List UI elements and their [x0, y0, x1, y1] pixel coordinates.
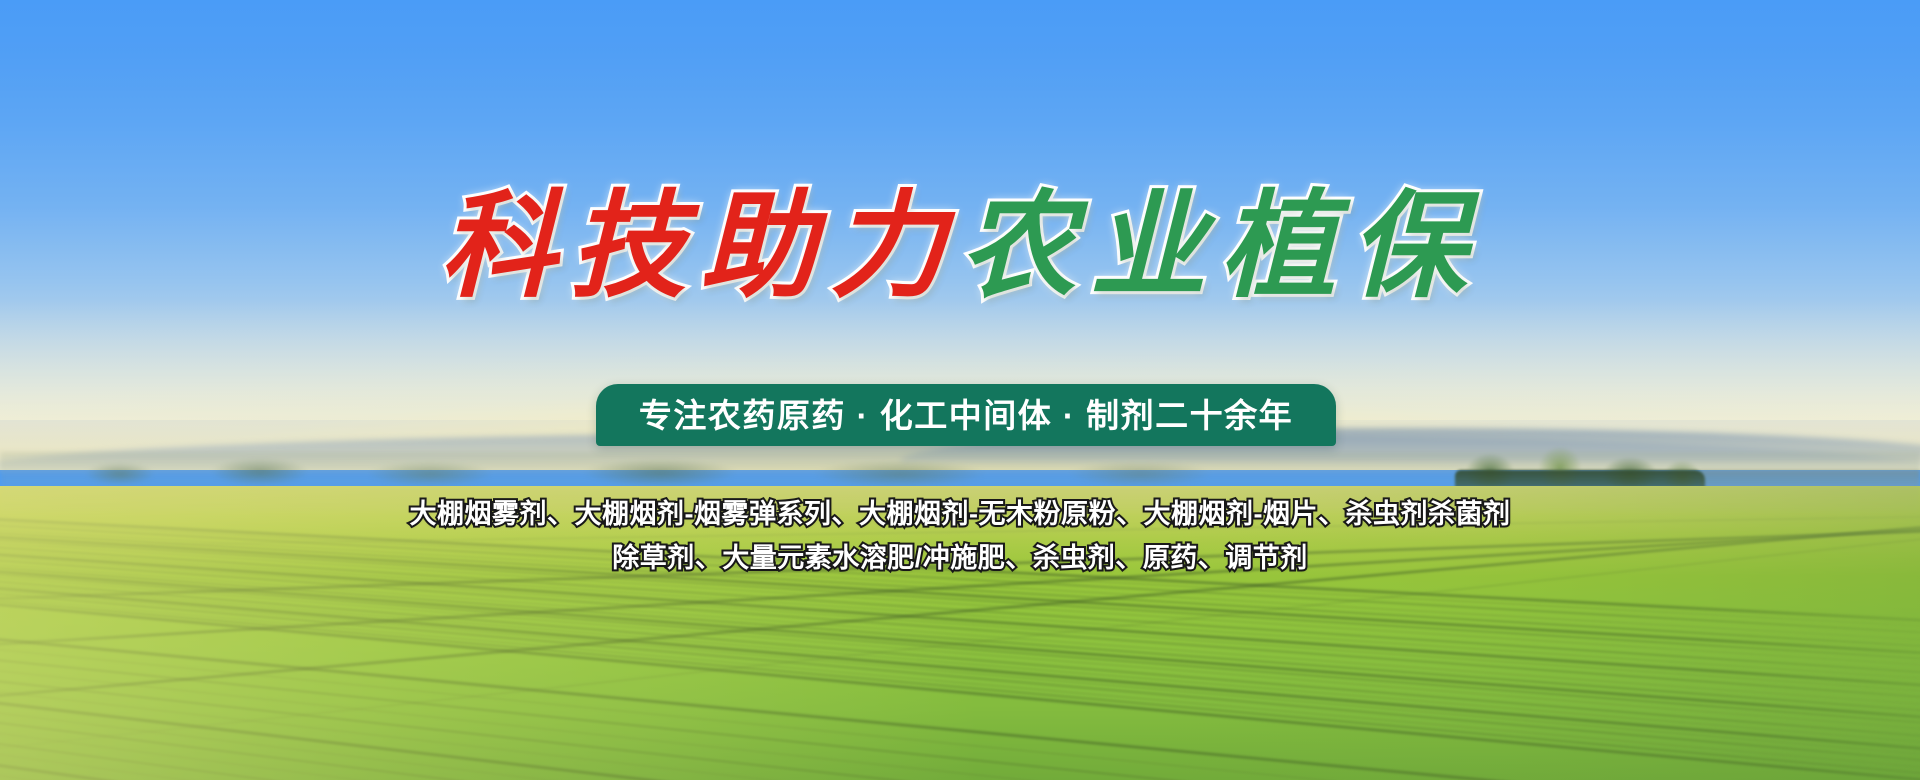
product-description: 大棚烟雾剂、大棚烟剂-烟雾弹系列、大棚烟剂-无木粉原粉、大棚烟剂-烟片、杀虫剂杀… [0, 492, 1920, 580]
tagline-text: 专注农药原药 · 化工中间体 · 制剂二十余年 [639, 399, 1293, 432]
description-line-1: 大棚烟雾剂、大棚烟剂-烟雾弹系列、大棚烟剂-无木粉原粉、大棚烟剂-烟片、杀虫剂杀… [0, 492, 1920, 536]
tagline-pill: 专注农药原药 · 化工中间体 · 制剂二十余年 [596, 384, 1336, 446]
headline-green-text: 农业植保 [960, 178, 1480, 314]
description-line-2: 除草剂、大量元素水溶肥/冲施肥、杀虫剂、原药、调节剂 [0, 536, 1920, 580]
banner-content: 科技助力农业植保 专注农药原药 · 化工中间体 · 制剂二十余年 大棚烟雾剂、大… [0, 0, 1920, 780]
headline-red-text: 科技助力 [440, 178, 960, 314]
hero-banner: 科技助力农业植保 专注农药原药 · 化工中间体 · 制剂二十余年 大棚烟雾剂、大… [0, 0, 1920, 780]
banner-headline: 科技助力农业植保 [0, 182, 1920, 310]
